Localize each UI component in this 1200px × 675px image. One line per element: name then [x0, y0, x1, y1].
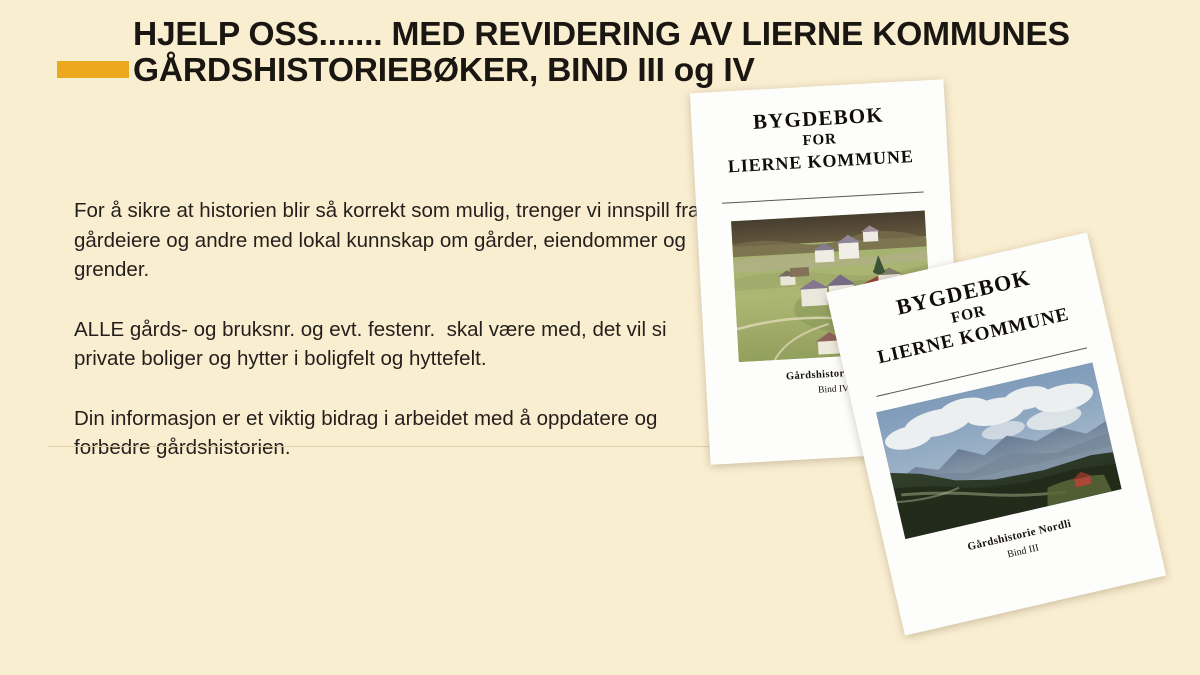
- body-paragraph-1: For å sikre at historien blir så korrekt…: [74, 196, 714, 285]
- slide-body-text: For å sikre at historien blir så korrekt…: [74, 196, 714, 463]
- slide-title: HJELP OSS....... MED REVIDERING AV LIERN…: [133, 17, 1163, 89]
- body-paragraph-2: ALLE gårds- og bruksnr. og evt. festenr.…: [74, 315, 714, 374]
- body-divider-line: [48, 446, 730, 447]
- forested-valley-mountain-photo: [876, 362, 1122, 539]
- body-paragraph-3: Din informasjon er et viktig bidrag i ar…: [74, 404, 714, 463]
- book-sorli-rule: [722, 191, 924, 203]
- book-sorli-title: BYGDEBOK FOR LIERNE KOMMUNE: [691, 99, 948, 180]
- title-accent-bar: [57, 61, 129, 78]
- slide-title-line-1: HJELP OSS....... MED REVIDERING AV LIERN…: [133, 17, 1163, 53]
- slide-title-line-2: GÅRDSHISTORIEBØKER, BIND III og IV: [133, 53, 1163, 89]
- book-cover-nordli: BYGDEBOK FOR LIERNE KOMMUNE: [826, 232, 1166, 635]
- book-nordli-cover-photo: [876, 362, 1122, 539]
- presentation-slide: HJELP OSS....... MED REVIDERING AV LIERN…: [0, 0, 1200, 675]
